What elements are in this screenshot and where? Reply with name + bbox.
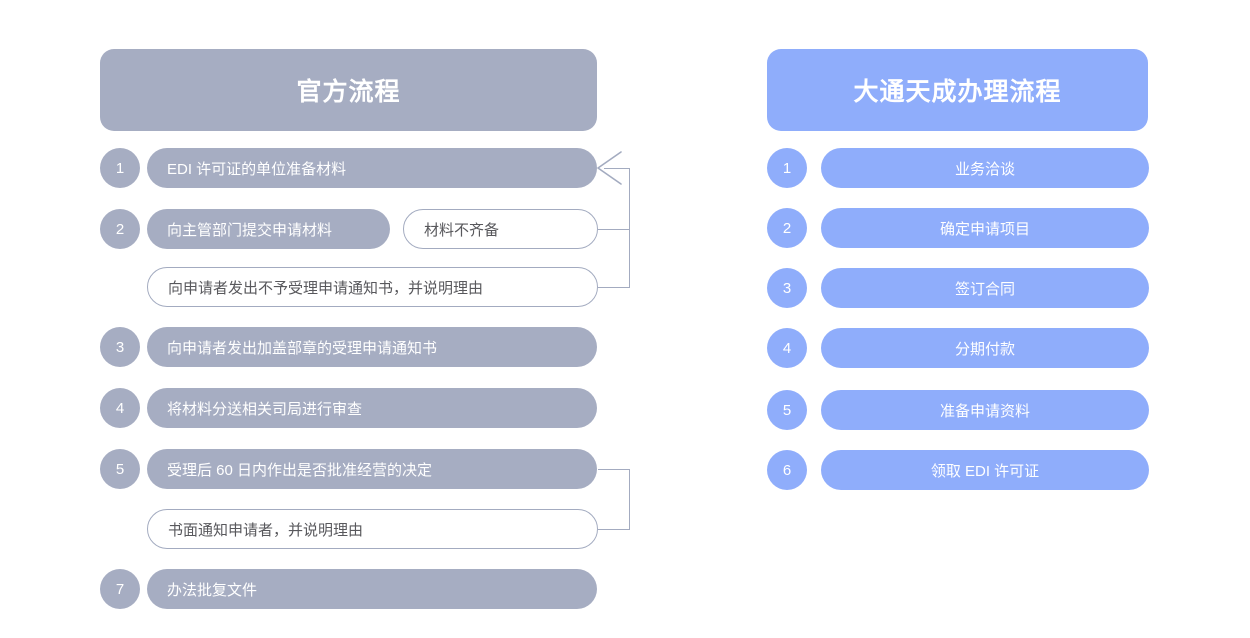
step-number-badge: 4 (767, 328, 807, 368)
flowchart-canvas: 官方流程 1 EDI 许可证的单位准备材料 2 向主管部门提交申请材料 材料不齐… (0, 0, 1250, 638)
agency-step-label: 准备申请资料 (821, 390, 1149, 430)
official-process-header: 官方流程 (100, 49, 597, 131)
agency-step-row-6[interactable]: 6 领取 EDI 许可证 (767, 450, 1149, 490)
official-branch-label: 向申请者发出不予受理申请通知书，并说明理由 (147, 267, 598, 307)
official-step-label: EDI 许可证的单位准备材料 (147, 148, 597, 188)
agency-step-label: 业务洽谈 (821, 148, 1149, 188)
agency-step-label: 分期付款 (821, 328, 1149, 368)
official-branch-label: 材料不齐备 (403, 209, 598, 249)
step-number-badge: 3 (100, 327, 140, 367)
official-step-row-7[interactable]: 7 办法批复文件 (100, 569, 597, 609)
agency-step-row-2[interactable]: 2 确定申请项目 (767, 208, 1149, 248)
connector-vertical-upper (629, 168, 630, 288)
step-number-badge: 1 (767, 148, 807, 188)
official-branch-row-3[interactable]: 书面通知申请者，并说明理由 (147, 509, 598, 549)
connector-horizontal-step5 (598, 469, 630, 470)
step-number-badge: 7 (100, 569, 140, 609)
agency-step-label: 确定申请项目 (821, 208, 1149, 248)
agency-step-row-3[interactable]: 3 签订合同 (767, 268, 1149, 308)
official-step-row-3[interactable]: 3 向申请者发出加盖部章的受理申请通知书 (100, 327, 597, 367)
step-number-badge: 6 (767, 450, 807, 490)
step-number-badge: 2 (767, 208, 807, 248)
connector-horizontal-branch2 (598, 287, 630, 288)
connector-horizontal-branch1 (598, 229, 630, 230)
official-step-label: 将材料分送相关司局进行审查 (147, 388, 597, 428)
step-number-badge: 1 (100, 148, 140, 188)
agency-step-label: 签订合同 (821, 268, 1149, 308)
step-number-badge: 3 (767, 268, 807, 308)
official-step-row-4[interactable]: 4 将材料分送相关司局进行审查 (100, 388, 597, 428)
step-number-badge: 4 (100, 388, 140, 428)
official-step-label: 向主管部门提交申请材料 (147, 209, 390, 249)
official-step-row-2[interactable]: 2 向主管部门提交申请材料 (100, 209, 390, 249)
connector-vertical-lower (629, 469, 630, 530)
step-number-badge: 5 (100, 449, 140, 489)
official-step-label: 受理后 60 日内作出是否批准经营的决定 (147, 449, 597, 489)
agency-step-row-1[interactable]: 1 业务洽谈 (767, 148, 1149, 188)
connector-horizontal-branch3 (598, 529, 630, 530)
step-number-badge: 2 (100, 209, 140, 249)
official-step-label: 向申请者发出加盖部章的受理申请通知书 (147, 327, 597, 367)
agency-process-header: 大通天成办理流程 (767, 49, 1148, 131)
agency-step-row-5[interactable]: 5 准备申请资料 (767, 390, 1149, 430)
official-step-row-1[interactable]: 1 EDI 许可证的单位准备材料 (100, 148, 597, 188)
official-branch-label: 书面通知申请者，并说明理由 (147, 509, 598, 549)
official-branch-row-1[interactable]: 材料不齐备 (403, 209, 598, 249)
agency-step-row-4[interactable]: 4 分期付款 (767, 328, 1149, 368)
official-branch-row-2[interactable]: 向申请者发出不予受理申请通知书，并说明理由 (147, 267, 598, 307)
official-step-row-5[interactable]: 5 受理后 60 日内作出是否批准经营的决定 (100, 449, 597, 489)
agency-step-label: 领取 EDI 许可证 (821, 450, 1149, 490)
step-number-badge: 5 (767, 390, 807, 430)
official-step-label: 办法批复文件 (147, 569, 597, 609)
